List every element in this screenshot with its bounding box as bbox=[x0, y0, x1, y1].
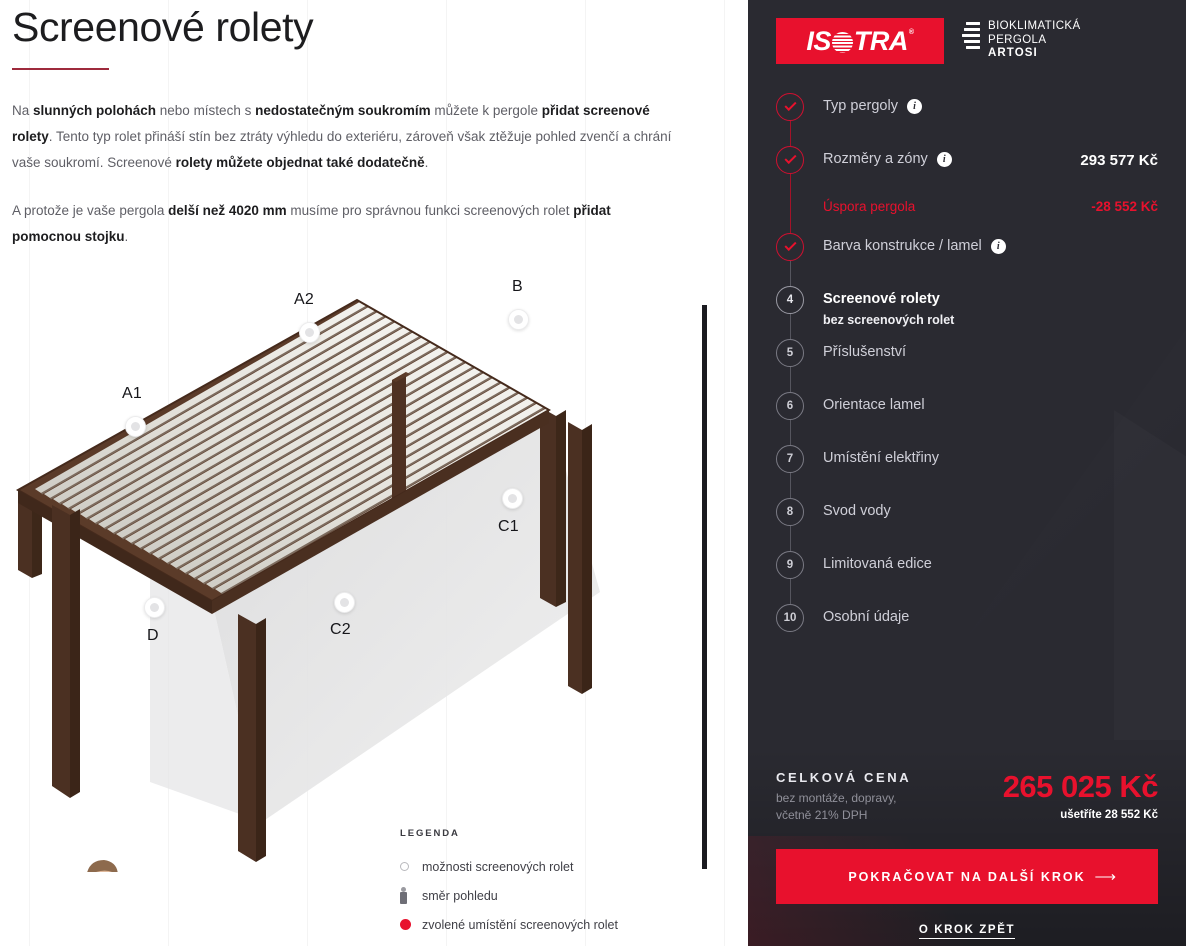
step-item-1[interactable]: Typ pergolyi bbox=[776, 93, 1158, 146]
step-body: Screenové roletybez screenových rolet bbox=[804, 286, 1158, 329]
step-marker: 9 bbox=[776, 551, 804, 579]
marker-label-d: D bbox=[147, 627, 159, 645]
step-item-9[interactable]: 9Limitovaná edice bbox=[776, 551, 1158, 604]
info-icon[interactable]: i bbox=[907, 99, 922, 114]
marker-label-c1: C1 bbox=[498, 518, 519, 536]
step-item-2[interactable]: Rozměry a zónyi293 577 Kč bbox=[776, 146, 1158, 199]
globe-icon bbox=[832, 32, 853, 53]
step-marker bbox=[776, 233, 804, 261]
step-item-7[interactable]: 7Umístění elektřiny bbox=[776, 445, 1158, 498]
isotra-logo[interactable]: IS TRA ® bbox=[776, 18, 944, 64]
step-marker: 4 bbox=[776, 286, 804, 314]
info-icon[interactable]: i bbox=[991, 239, 1006, 254]
step-body: Rozměry a zónyi293 577 Kč bbox=[804, 146, 1158, 169]
scrollbar-thumb[interactable] bbox=[702, 305, 707, 869]
back-link-label[interactable]: O KROK ZPĚT bbox=[919, 924, 1015, 939]
step-connector bbox=[790, 579, 791, 604]
description-paragraph: Na slunných polohách nebo místech s nedo… bbox=[12, 98, 672, 176]
marker-label-b: B bbox=[512, 278, 523, 296]
step-list: Typ pergolyiRozměry a zónyi293 577 KčÚsp… bbox=[776, 93, 1158, 657]
marker-label-a1: A1 bbox=[122, 385, 142, 403]
screen-position-marker-d[interactable] bbox=[144, 597, 165, 618]
legend-title: LEGENDA bbox=[400, 828, 700, 839]
screen-position-marker-c2[interactable] bbox=[334, 592, 355, 613]
brand-line-1: BIOKLIMATICKÁ bbox=[988, 20, 1081, 34]
logo-text-post: TRA bbox=[854, 26, 908, 57]
total-price-savings: ušetříte 28 552 Kč bbox=[1003, 809, 1158, 821]
step-label-text: Typ pergoly bbox=[823, 97, 898, 116]
step-discount-spacer bbox=[776, 199, 804, 200]
step-label: Osobní údaje bbox=[823, 608, 909, 627]
step-number: 10 bbox=[776, 604, 804, 632]
step-item-8[interactable]: 8Svod vody bbox=[776, 498, 1158, 551]
discount-body: Úspora pergola-28 552 Kč bbox=[804, 199, 1158, 214]
step-connector bbox=[790, 420, 791, 445]
step-body: Umístění elektřiny bbox=[804, 445, 1158, 468]
step-label-text: Příslušenství bbox=[823, 343, 906, 362]
step-label: Screenové rolety bbox=[823, 290, 940, 309]
step-label: Umístění elektřiny bbox=[823, 449, 939, 468]
step-number: 5 bbox=[776, 339, 804, 367]
step-main: Limitovaná edice bbox=[823, 555, 1158, 574]
brand-line-2: PERGOLA bbox=[988, 34, 1081, 48]
step-label: Limitovaná edice bbox=[823, 555, 932, 574]
pergola-illustration: A1A2BC1C2D bbox=[0, 262, 700, 872]
step-connector bbox=[790, 121, 791, 146]
continue-button-label: POKRAČOVAT NA DALŠÍ KROK bbox=[848, 870, 1085, 884]
step-marker: 5 bbox=[776, 339, 804, 367]
step-discount-row: Úspora pergola-28 552 Kč bbox=[776, 199, 1158, 233]
page-title: Screenové rolety bbox=[12, 1, 313, 53]
step-connector bbox=[790, 526, 791, 551]
step-label-text: Umístění elektřiny bbox=[823, 449, 939, 468]
step-body: Osobní údaje bbox=[804, 604, 1158, 627]
step-body: Limitovaná edice bbox=[804, 551, 1158, 574]
info-icon[interactable]: i bbox=[937, 152, 952, 167]
product-brand: BIOKLIMATICKÁ PERGOLA ARTOSI bbox=[962, 18, 1081, 61]
step-number: 7 bbox=[776, 445, 804, 473]
marker-label-a2: A2 bbox=[294, 291, 314, 309]
pergola-svg bbox=[0, 262, 700, 872]
step-number: 6 bbox=[776, 392, 804, 420]
check-icon bbox=[784, 152, 796, 164]
screen-position-marker-a2[interactable] bbox=[299, 322, 320, 343]
legend: LEGENDA možnosti screenových rolet směr … bbox=[400, 828, 700, 939]
screen-position-marker-c1[interactable] bbox=[502, 488, 523, 509]
marker-label-c2: C2 bbox=[330, 621, 351, 639]
filled-dot-icon bbox=[400, 919, 422, 930]
legend-item: zvolené umístění screenových rolet bbox=[400, 910, 700, 939]
discount-value: -28 552 Kč bbox=[1091, 199, 1158, 214]
step-marker bbox=[776, 93, 804, 121]
step-label: Svod vody bbox=[823, 502, 891, 521]
pergola-lamella-icon bbox=[962, 20, 980, 54]
discount-label: Úspora pergola bbox=[823, 199, 1091, 214]
configurator-sidebar: IS TRA ® BIOKLIMATICKÁ PERGOLA ART bbox=[748, 0, 1186, 946]
step-marker: 7 bbox=[776, 445, 804, 473]
step-marker: 10 bbox=[776, 604, 804, 632]
step-label: Barva konstrukce / lameli bbox=[823, 237, 1006, 256]
legend-item-label: směr pohledu bbox=[422, 889, 498, 903]
main-scrollbar[interactable] bbox=[702, 296, 707, 878]
step-label-text: Barva konstrukce / lamel bbox=[823, 237, 982, 256]
step-check-icon bbox=[776, 146, 804, 174]
total-price-note-1: bez montáže, dopravy, bbox=[776, 790, 911, 807]
total-price-amount: 265 025 Kč bbox=[1003, 770, 1158, 804]
logo-text-pre: IS bbox=[806, 26, 831, 57]
arrow-right-icon: ⟶ bbox=[1094, 869, 1116, 884]
brand-line-3: ARTOSI bbox=[988, 47, 1081, 61]
step-main: Typ pergolyi bbox=[823, 97, 1158, 116]
person-figure bbox=[69, 860, 155, 872]
check-icon bbox=[784, 99, 796, 111]
step-marker bbox=[776, 146, 804, 174]
description-paragraph: A protože je vaše pergola delší než 4020… bbox=[12, 198, 672, 250]
step-item-3[interactable]: Barva konstrukce / lameli bbox=[776, 233, 1158, 286]
step-price: 293 577 Kč bbox=[1080, 150, 1158, 169]
continue-button[interactable]: POKRAČOVAT NA DALŠÍ KROK ⟶ bbox=[776, 849, 1158, 904]
step-number: 8 bbox=[776, 498, 804, 526]
step-connector bbox=[790, 473, 791, 498]
total-price-title: CELKOVÁ CENA bbox=[776, 770, 911, 785]
step-connector bbox=[790, 314, 791, 339]
empty-circle-icon bbox=[400, 862, 422, 871]
brand-header: IS TRA ® BIOKLIMATICKÁ PERGOLA ART bbox=[776, 18, 1081, 64]
step-connector bbox=[790, 261, 791, 286]
step-body: Svod vody bbox=[804, 498, 1158, 521]
step-label: Rozměry a zónyi bbox=[823, 150, 952, 169]
step-connector bbox=[790, 175, 791, 233]
step-main: Orientace lamel bbox=[823, 396, 1158, 415]
legend-item: možnosti screenových rolet bbox=[400, 852, 700, 881]
step-main: Screenové roletybez screenových rolet bbox=[823, 290, 1158, 329]
step-body: Příslušenství bbox=[804, 339, 1158, 362]
step-connector bbox=[790, 367, 791, 392]
step-label: Typ pergolyi bbox=[823, 97, 922, 116]
step-check-icon bbox=[776, 233, 804, 261]
step-item-5[interactable]: 5Příslušenství bbox=[776, 339, 1158, 392]
step-item-4[interactable]: 4Screenové roletybez screenových rolet bbox=[776, 286, 1158, 339]
legend-item: směr pohledu bbox=[400, 881, 700, 910]
step-label-text: Osobní údaje bbox=[823, 608, 909, 627]
step-marker: 6 bbox=[776, 392, 804, 420]
step-label-text: Orientace lamel bbox=[823, 396, 925, 415]
step-number: 4 bbox=[776, 286, 804, 314]
step-main: Svod vody bbox=[823, 502, 1158, 521]
step-label-text: Limitovaná edice bbox=[823, 555, 932, 574]
step-main: Příslušenství bbox=[823, 343, 1158, 362]
registered-mark: ® bbox=[909, 29, 914, 36]
step-main: Rozměry a zónyi bbox=[823, 150, 1080, 169]
step-check-icon bbox=[776, 93, 804, 121]
step-main: Osobní údaje bbox=[823, 608, 1158, 627]
step-label: Orientace lamel bbox=[823, 396, 925, 415]
main-content-panel: Screenové rolety Na slunných polohách ne… bbox=[0, 0, 748, 946]
description-text: Na slunných polohách nebo místech s nedo… bbox=[12, 98, 672, 250]
step-main: Barva konstrukce / lameli bbox=[823, 237, 1158, 256]
check-icon bbox=[784, 239, 796, 251]
step-label: Příslušenství bbox=[823, 343, 906, 362]
step-item-6[interactable]: 6Orientace lamel bbox=[776, 392, 1158, 445]
step-marker: 8 bbox=[776, 498, 804, 526]
person-icon bbox=[400, 887, 422, 904]
title-underline bbox=[12, 68, 109, 70]
screen-position-marker-a1[interactable] bbox=[125, 416, 146, 437]
step-body: Barva konstrukce / lameli bbox=[804, 233, 1158, 256]
legend-item-label: zvolené umístění screenových rolet bbox=[422, 918, 618, 932]
step-label-text: Rozměry a zóny bbox=[823, 150, 928, 169]
step-label-text: Svod vody bbox=[823, 502, 891, 521]
step-label-text: Screenové rolety bbox=[823, 290, 940, 309]
configurator-page: Screenové rolety Na slunných polohách ne… bbox=[0, 0, 1186, 946]
total-price-block: CELKOVÁ CENA bez montáže, dopravy, včetn… bbox=[776, 770, 1158, 824]
step-body: Orientace lamel bbox=[804, 392, 1158, 415]
step-item-10[interactable]: 10Osobní údaje bbox=[776, 604, 1158, 657]
step-selected-value: bez screenových rolet bbox=[823, 312, 1158, 329]
step-number: 9 bbox=[776, 551, 804, 579]
back-link[interactable]: O KROK ZPĚT bbox=[748, 920, 1186, 938]
screen-position-marker-b[interactable] bbox=[508, 309, 529, 330]
step-main: Umístění elektřiny bbox=[823, 449, 1158, 468]
legend-item-label: možnosti screenových rolet bbox=[422, 860, 573, 874]
step-body: Typ pergolyi bbox=[804, 93, 1158, 116]
total-price-note-2: včetně 21% DPH bbox=[776, 807, 911, 824]
